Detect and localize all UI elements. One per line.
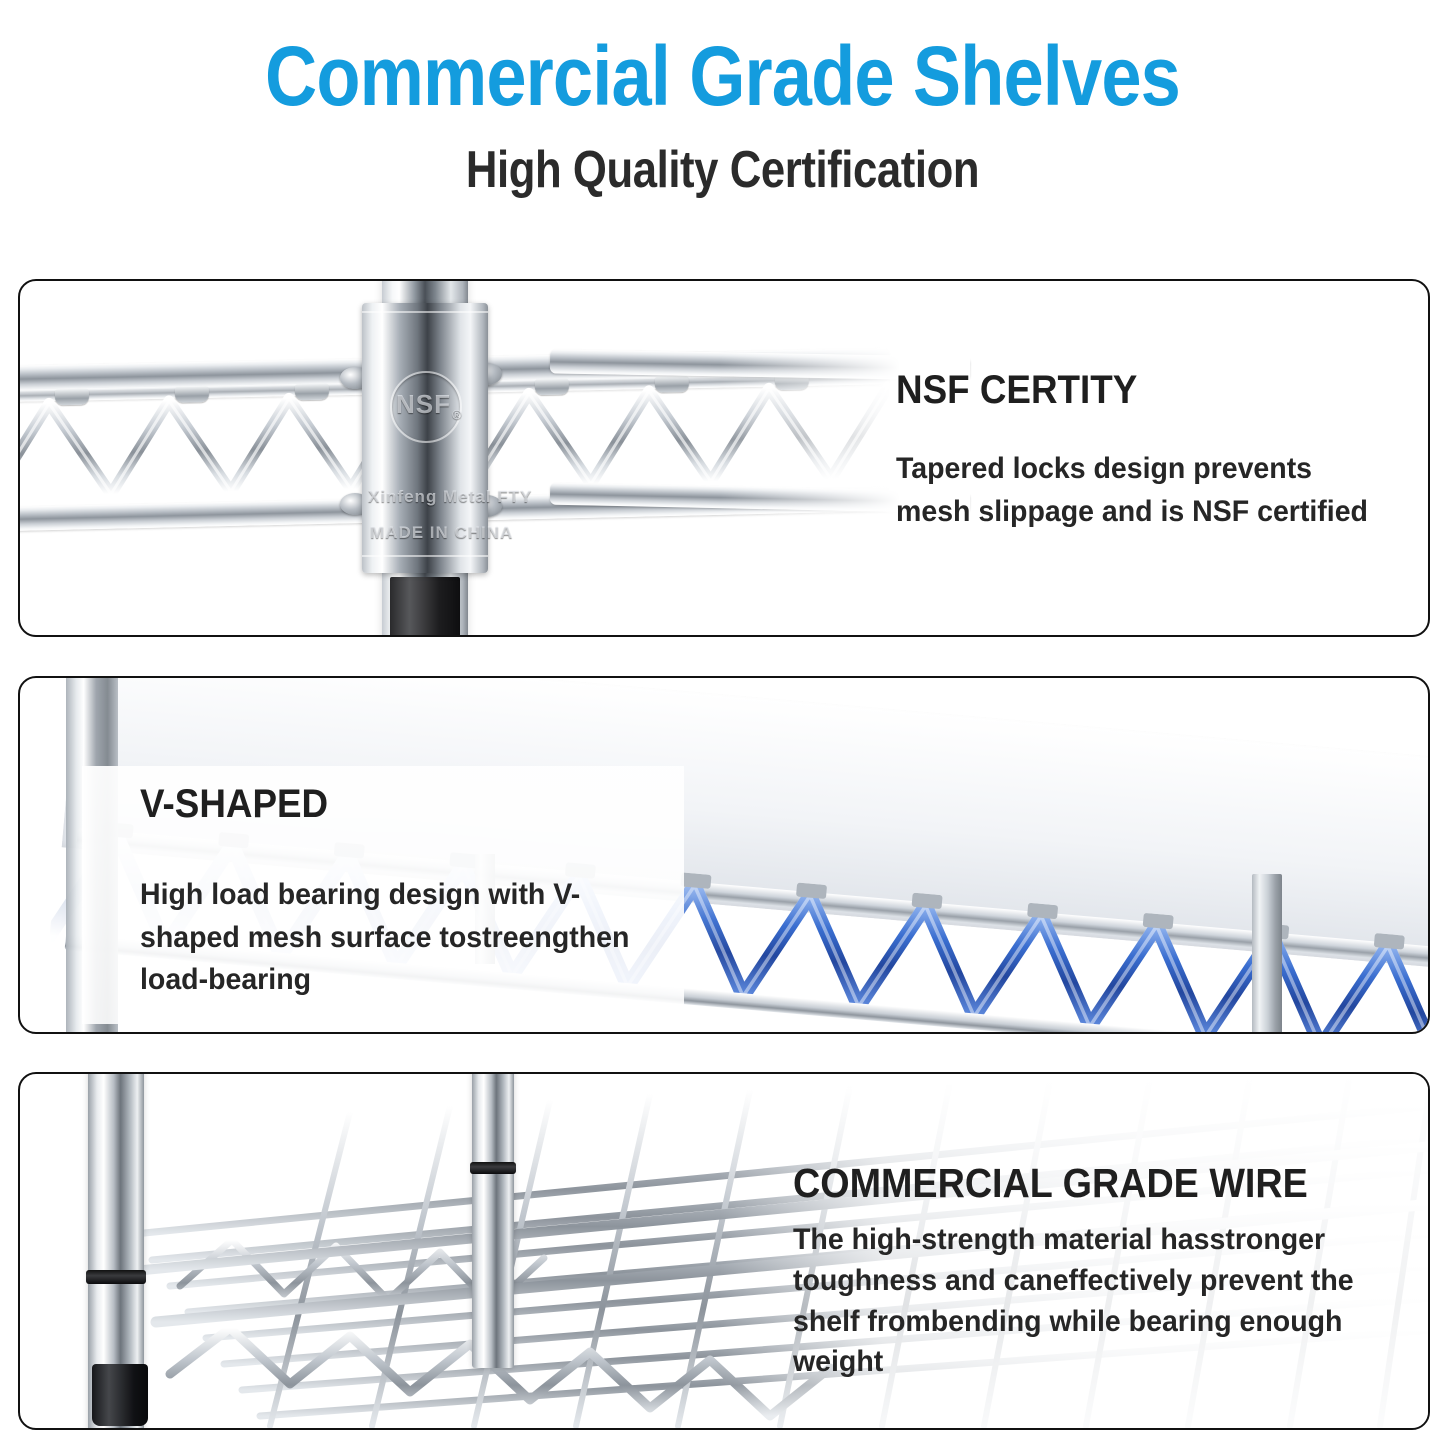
chrome-post-near (1252, 874, 1282, 1032)
black-post-segment (390, 577, 460, 635)
feature-body-commercial-grade-wire: The high-strength material hasstronger t… (793, 1220, 1382, 1383)
chrome-post-rear (472, 1074, 514, 1368)
feature-heading-v-shaped: V-SHAPED (140, 784, 655, 824)
nsf-logo-text: NSF (396, 389, 451, 420)
shelf-hook (175, 386, 209, 403)
feature-heading-nsf: NSF CERTITY (896, 370, 1374, 410)
page-header: Commercial Grade Shelves High Quality Ce… (0, 0, 1445, 196)
black-collar (470, 1162, 516, 1174)
feature-body-v-shaped: High load bearing design with V-shaped m… (140, 874, 672, 1002)
page-subtitle: High Quality Certification (116, 144, 1330, 196)
black-collar (86, 1270, 146, 1284)
page-title: Commercial Grade Shelves (101, 34, 1344, 118)
registered-mark-icon: ® (452, 407, 463, 422)
shelf-hook (295, 384, 329, 401)
post-foot-cap (92, 1364, 148, 1426)
v-shaped-text-block: V-SHAPED High load bearing design with V… (140, 784, 700, 1002)
collar-brand-text: Xinfeng Metal FTY (368, 487, 532, 507)
feature-body-nsf: Tapered locks design prevents mesh slipp… (896, 448, 1390, 533)
shelf-hook (55, 389, 89, 406)
feature-heading-commercial-grade-wire: COMMERCIAL GRADE WIRE (793, 1163, 1363, 1204)
tapered-lock-collar: NSF ® Xinfeng Metal FTY MADE IN CHINA (362, 303, 488, 573)
shelf-hook (655, 376, 689, 393)
commercial-grade-wire-text-block: COMMERCIAL GRADE WIRE The high-strength … (793, 1163, 1413, 1383)
collar-origin-text: MADE IN CHINA (370, 523, 513, 543)
nsf-certity-text-block: NSF CERTITY Tapered locks design prevent… (896, 370, 1416, 533)
shelf-hook (535, 379, 569, 396)
